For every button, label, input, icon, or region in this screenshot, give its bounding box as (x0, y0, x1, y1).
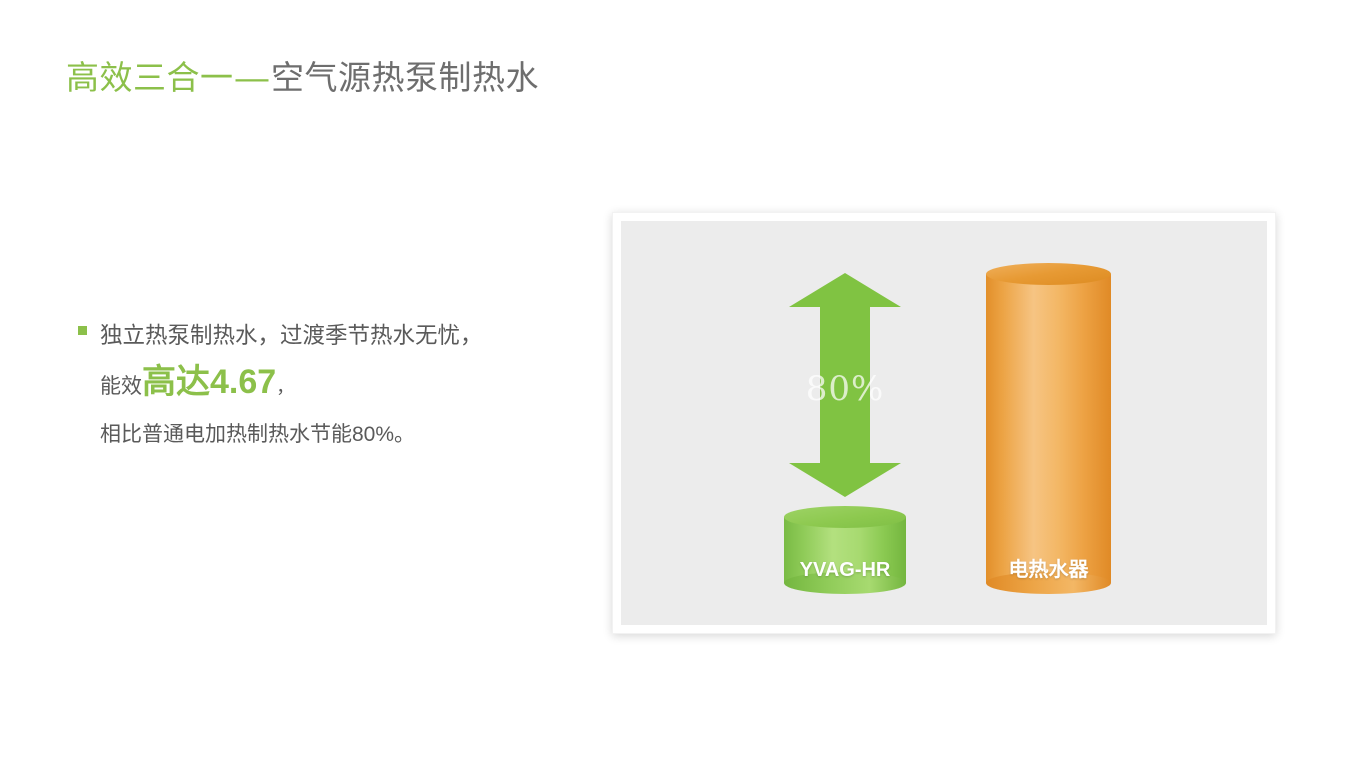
efficiency-value: 高达4.67 (142, 363, 276, 401)
square-bullet-icon (78, 326, 87, 335)
orange-cylinder-electric-heater: 电热水器 (986, 263, 1111, 594)
bullet-line-3: 相比普通电加热制热水节能80%。 (100, 411, 578, 458)
orange-cylinder-body (986, 274, 1111, 583)
page-title: 高效三合一—空气源热泵制热水 (66, 56, 539, 100)
comparison-figure-panel: 80% YVAG-HR 电热水器 (612, 212, 1276, 634)
page-title-dash: — (234, 59, 272, 96)
orange-cylinder-top (986, 263, 1111, 285)
comparison-figure-canvas: 80% YVAG-HR 电热水器 (621, 221, 1267, 625)
green-cylinder-label: YVAG-HR (784, 559, 906, 582)
bullet-line-1: 独立热泵制热水，过渡季节热水无忧， (100, 312, 578, 359)
orange-cylinder-label: 电热水器 (986, 553, 1111, 582)
double-headed-arrow-icon (789, 273, 901, 497)
bullet-line-2-suffix: ， (276, 377, 294, 397)
bullet-line-2: 能效高达4.67， (100, 359, 578, 411)
bullet-line-2-prefix: 能效 (100, 375, 142, 398)
green-cylinder-yvag-hr: YVAG-HR (784, 506, 906, 594)
bullet-block: 独立热泵制热水，过渡季节热水无忧， 能效高达4.67， 相比普通电加热制热水节能… (78, 312, 578, 458)
page-title-rest: 空气源热泵制热水 (271, 59, 539, 96)
page-title-highlight: 高效三合一 (66, 59, 234, 96)
green-cylinder-top (784, 506, 906, 528)
